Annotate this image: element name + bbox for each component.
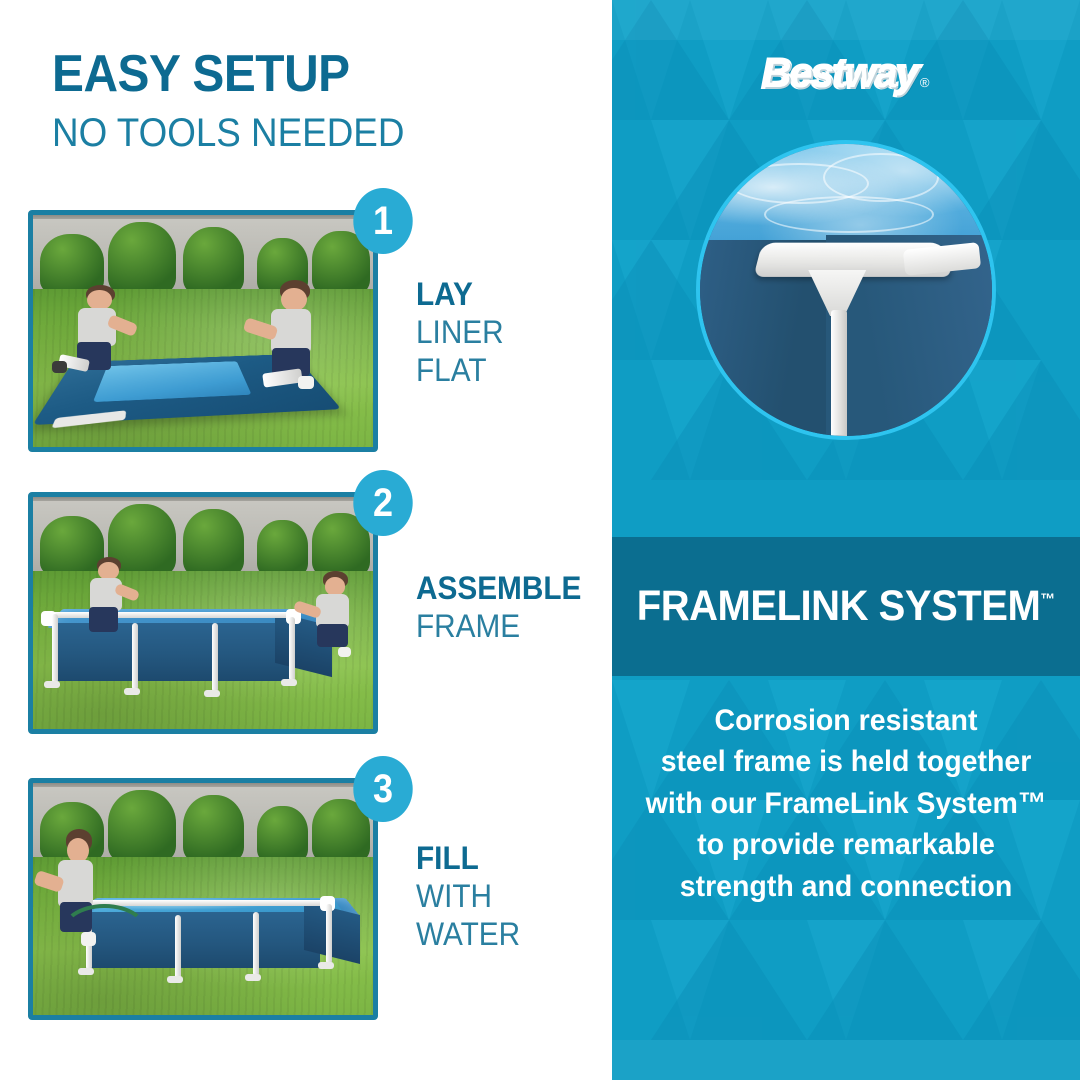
framelink-title: FRAMELINK SYSTEM™ [637,582,1055,631]
step-3-label-light-1: WITH [416,878,583,916]
step-2-label: ASSEMBLE FRAME [416,570,596,646]
framelink-title-text: FRAMELINK SYSTEM [637,582,1041,630]
brand-logo-text: Bestway [763,52,918,97]
framelink-feature-panel: Bestway® FRAMELINK SYSTEM™ Corrosion res… [612,0,1080,1080]
step-2-label-bold: ASSEMBLE [416,570,583,608]
step-3-photo [28,778,378,1020]
page-title: EASY SETUP [52,48,404,100]
person-woman-graphic [305,571,366,673]
headline-block: EASY SETUP NO TOOLS NEEDED [52,48,435,158]
setup-step-3: 3 FILL WITH WATER [28,778,588,1028]
step-3-label: FILL WITH WATER [416,840,596,953]
step-1-label-light-1: LINER [416,314,583,352]
step-1-number-badge: 1 [353,188,412,254]
page-subtitle: NO TOOLS NEEDED [52,108,404,158]
registered-trademark-icon: ® [920,75,930,90]
infographic-page: EASY SETUP NO TOOLS NEEDED [0,0,1080,1080]
setup-step-1: 1 LAY LINER FLAT [28,210,588,460]
pool-leg-graphic [831,310,847,440]
step-1-photo [28,210,378,452]
step-2-photo [28,492,378,734]
step-3-number-badge: 3 [353,756,412,822]
step-2-label-light-1: FRAME [416,608,583,646]
person-woman-graphic [257,280,332,410]
step-1-label: LAY LINER FLAT [416,276,596,389]
step-3-label-bold: FILL [416,840,583,878]
step-1-label-light-2: FLAT [416,352,583,390]
step-1-label-bold: LAY [416,276,583,314]
person-man-graphic [81,557,139,650]
person-man-graphic [67,285,135,392]
brand-logo: Bestway® [612,52,1080,97]
description-line-1: Corrosion resistant [624,700,1069,741]
framelink-description: Corrosion resistant steel frame is held … [624,700,1069,907]
framelink-title-band: FRAMELINK SYSTEM™ [612,537,1080,676]
garden-hose-graphic [60,904,148,964]
description-line-4: to provide remarkable [624,824,1069,865]
trademark-icon: ™ [1041,592,1055,609]
description-line-5: strength and connection [624,866,1069,907]
step-3-label-light-2: WATER [416,916,583,954]
setup-step-2: 2 ASSEMBLE FRAME [28,492,588,742]
description-line-3: with our FrameLink System™ [624,783,1069,824]
step-2-number-badge: 2 [353,470,412,536]
product-detail-photo [696,140,996,440]
description-line-2: steel frame is held together [624,741,1069,782]
setup-steps-panel: EASY SETUP NO TOOLS NEEDED [0,0,612,1080]
